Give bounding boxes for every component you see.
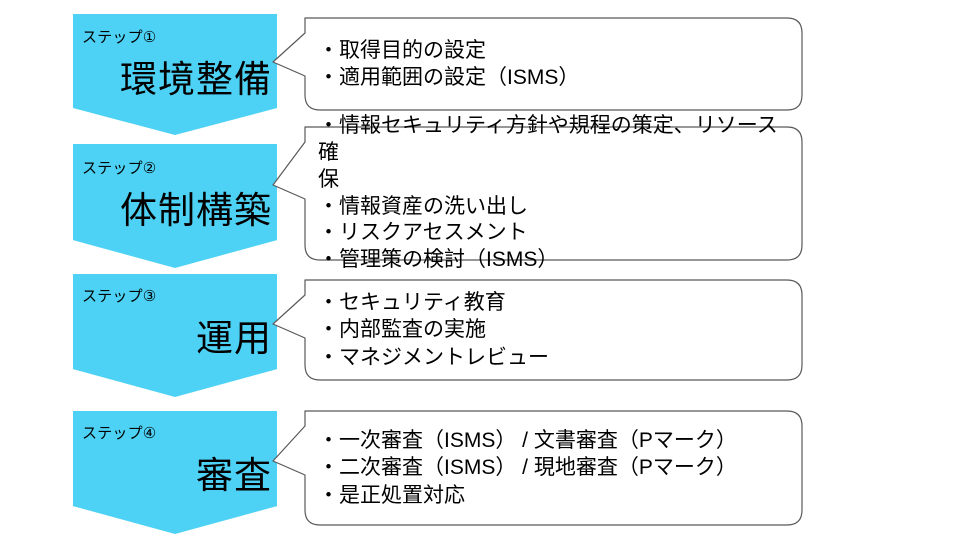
step-chevron-3[interactable]: ステップ③ 運用 [73, 274, 277, 397]
chevron-shape-4 [73, 411, 277, 534]
chevron-shape-3 [73, 274, 277, 397]
chevron-shape-2 [73, 144, 277, 268]
callout-outline-3 [272, 276, 806, 384]
callout-box-2[interactable]: ・情報セキュリティ方針や規程の策定、リソース確 保 ・情報資産の洗い出し ・リス… [272, 123, 806, 264]
callout-outline-2 [272, 123, 806, 264]
step-chevron-2[interactable]: ステップ② 体制構築 [73, 144, 277, 268]
callout-box-3[interactable]: ・セキュリティ教育 ・内部監査の実施 ・マネジメントレビュー [272, 276, 806, 384]
step-chevron-1[interactable]: ステップ① 環境整備 [73, 14, 277, 135]
callout-box-1[interactable]: ・取得目的の設定 ・適用範囲の設定（ISMS） [272, 14, 806, 114]
callout-box-4[interactable]: ・一次審査（ISMS） / 文書審査（Pマーク） ・二次審査（ISMS） / 現… [272, 407, 806, 529]
callout-outline-1 [272, 14, 806, 114]
callout-outline-4 [272, 407, 806, 529]
process-flow-diagram: ステップ① 環境整備 ・取得目的の設定 ・適用範囲の設定（ISMS） ステップ②… [0, 0, 960, 540]
step-chevron-4[interactable]: ステップ④ 審査 [73, 411, 277, 534]
chevron-shape-1 [73, 14, 277, 135]
